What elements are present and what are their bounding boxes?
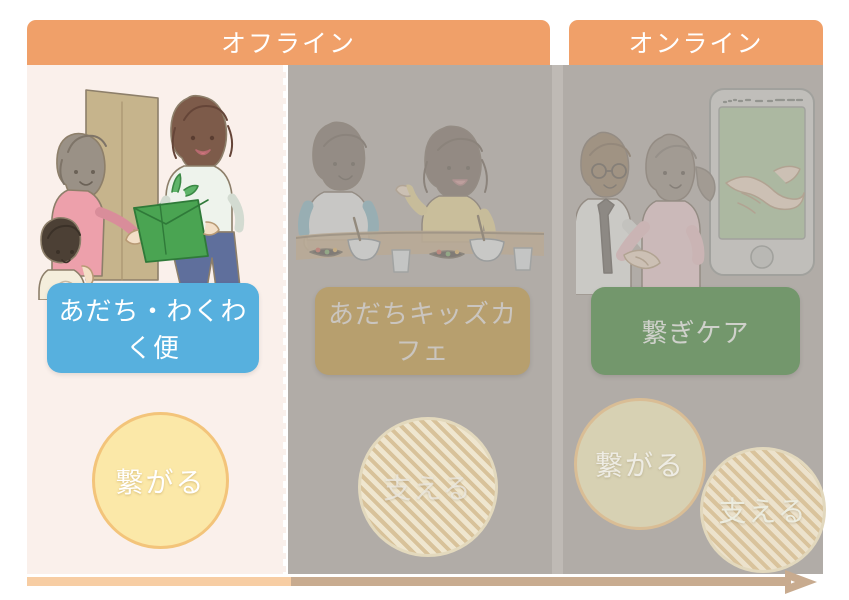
value-circle-tsunagaru-online[interactable]: 繋がる <box>574 398 706 530</box>
value-circle-label: 支える <box>383 467 472 507</box>
value-circle-label: 支える <box>718 490 807 530</box>
service-button-adachi-wakuwaku-bin[interactable]: あだち・わくわく便 <box>47 283 259 373</box>
service-button-tsunagi-care[interactable]: 繋ぎケア <box>591 287 800 375</box>
column-divider-dashed <box>283 65 286 574</box>
value-circle-sasaeru-offline-cafe[interactable]: 支える <box>358 417 498 557</box>
value-circle-label: 繋がる <box>115 461 205 501</box>
value-circle-sasaeru-online[interactable]: 支える <box>700 447 826 573</box>
illustration-handshake-with-smartphone <box>576 85 816 295</box>
value-circle-tsunagaru-offline-delivery[interactable]: 繋がる <box>92 412 229 549</box>
diagram-canvas: オフライン オンライン <box>0 0 849 600</box>
column-gap-separator <box>552 65 563 574</box>
illustration-delivery-to-family-at-door <box>38 80 274 300</box>
tab-online[interactable]: オンライン <box>569 20 823 65</box>
progress-arrow-right-icon <box>27 570 823 594</box>
service-button-adachi-kids-cafe[interactable]: あだちキッズカフェ <box>315 287 530 375</box>
value-circle-label: 繋がる <box>595 444 685 484</box>
illustration-children-eating-at-table <box>296 110 544 290</box>
tab-offline[interactable]: オフライン <box>27 20 550 65</box>
